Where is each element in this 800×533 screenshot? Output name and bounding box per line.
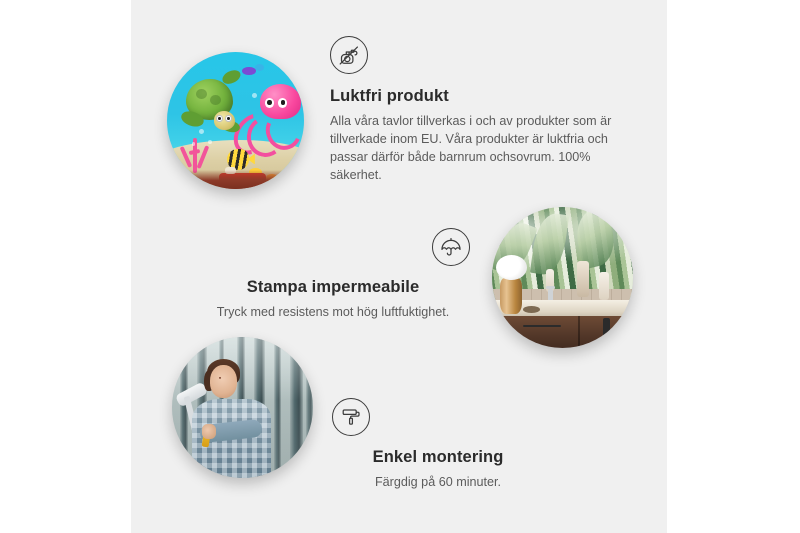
feature-heading: Stampa impermeabile [196,277,470,298]
painter-artwork [172,337,313,478]
underwater-artwork [167,52,304,189]
feature-body: Färgdig på 60 minuter. [318,473,558,491]
feature-block-waterproof-print: Stampa impermeabile Tryck med resistens … [196,228,470,321]
soap-dish-icon [523,306,540,313]
no-odour-perfume-icon [330,36,368,74]
sea-floor-strip [167,170,304,189]
person-hand [202,424,216,438]
bubble-icon [199,129,204,134]
feature-body: Tryck med resistens mot hög luftfuktighe… [196,303,470,321]
bottle-icon [577,261,590,298]
umbrella-icon [432,228,470,266]
coral-icon [179,131,212,172]
wooden-cabinet [503,316,633,348]
feature-body: Alla våra tavlor tillverkas i och av pro… [330,112,626,185]
feature-image-woman-painter-forest-mural [172,337,313,478]
drawer-handle-icon [523,325,562,327]
bottle-icon [599,272,609,300]
person-head [210,365,237,397]
feature-block-odour-free: Luktfri produkt Alla våra tavlor tillver… [330,36,626,185]
feature-image-bathroom-tropical-wallpaper [492,207,633,348]
paint-roller-icon [332,398,370,436]
vase-icon [500,278,521,315]
bubble-icon [192,142,195,145]
feature-heading: Enkel montering [318,447,558,468]
product-feature-banner: Luktfri produkt Alla våra tavlor tillver… [0,0,800,533]
feature-image-underwater-cartoon-scene [167,52,304,189]
bathroom-artwork [492,207,633,348]
door-handle-icon [603,318,610,338]
feature-block-easy-mounting: Enkel montering Färgdig på 60 minuter. [318,398,558,491]
smile-icon [219,376,221,379]
bubble-icon [252,93,257,98]
bubble-icon [208,140,212,144]
turtle-head-icon [214,111,236,130]
feature-heading: Luktfri produkt [330,86,626,107]
